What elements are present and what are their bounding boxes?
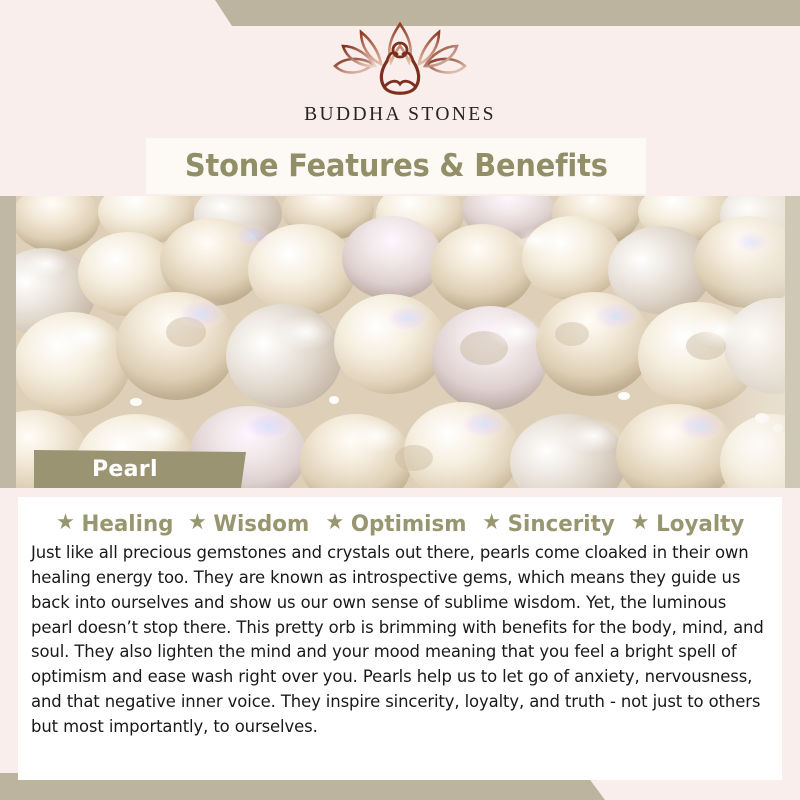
star-icon: ★: [56, 512, 75, 534]
benefit-label: Healing: [81, 511, 173, 537]
benefit-item: ★ Optimism: [317, 511, 467, 537]
title-banner: Stone Features & Benefits: [146, 138, 646, 194]
infographic-page: BUDDHA STONES Stone Features & Benefits: [0, 0, 800, 800]
benefit-label: Loyalty: [656, 511, 744, 537]
stone-name-label: Pearl: [34, 457, 158, 482]
benefit-label: Optimism: [351, 511, 467, 537]
star-icon: ★: [483, 512, 502, 534]
content-panel: ★ Healing ★ Wisdom ★ Optimism ★ Sincerit…: [18, 497, 782, 780]
photo-right-edge-strip: [784, 196, 800, 488]
brand-logo: BUDDHA STONES: [0, 18, 800, 138]
benefits-list: ★ Healing ★ Wisdom ★ Optimism ★ Sincerit…: [31, 511, 769, 537]
lotus-meditation-figure-icon: [325, 18, 475, 102]
star-icon: ★: [631, 512, 650, 534]
benefit-label: Wisdom: [214, 511, 310, 537]
brand-name: BUDDHA STONES: [304, 104, 496, 126]
benefit-item: ★ Wisdom: [180, 511, 310, 537]
star-icon: ★: [188, 512, 207, 534]
benefit-item: ★ Healing: [56, 511, 173, 537]
pearl-photo: [16, 196, 785, 488]
stone-name-tag: Pearl: [34, 450, 246, 488]
star-icon: ★: [325, 512, 344, 534]
benefit-label: Sincerity: [508, 511, 615, 537]
page-title: Stone Features & Benefits: [185, 148, 608, 184]
benefit-item: ★ Loyalty: [622, 511, 744, 537]
benefit-item: ★ Sincerity: [474, 511, 615, 537]
stone-description: Just like all precious gemstones and cry…: [31, 541, 769, 740]
